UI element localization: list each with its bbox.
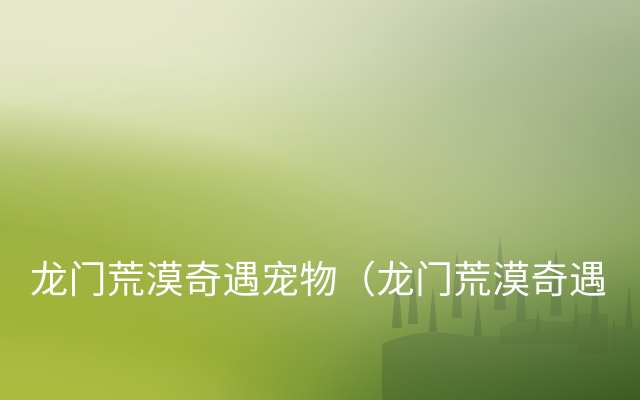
- overlay-caption: 龙门荒漠奇遇宠物（龙门荒漠奇遇 宠物大揭秘）: [30, 140, 630, 400]
- caption-line-1: 龙门荒漠奇遇宠物（龙门荒漠奇遇: [30, 252, 630, 308]
- screenshot-stage: 龙门荒漠奇遇宠物（龙门荒漠奇遇 宠物大揭秘）: [0, 0, 640, 400]
